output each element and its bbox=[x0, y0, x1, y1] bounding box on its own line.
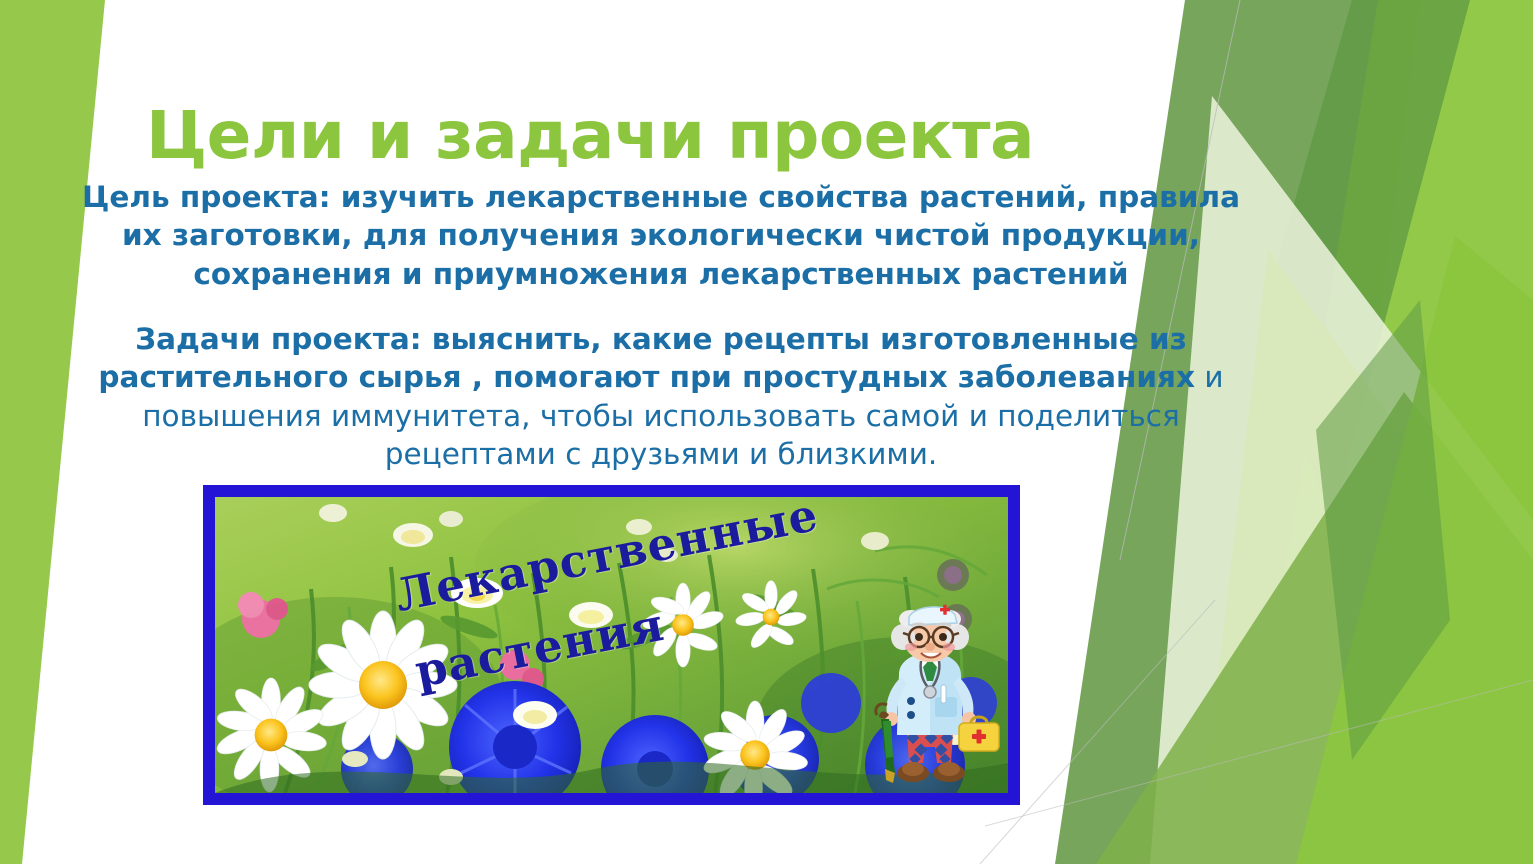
paragraph-tasks-bold: Задачи проекта: выяснить, какие рецепты … bbox=[98, 322, 1195, 394]
paragraph-goal: Цель проекта: изучить лекарственные свой… bbox=[78, 178, 1244, 293]
cartoon-doctor-illustration bbox=[855, 597, 1005, 796]
presentation-slide: Цели и задачи проекта Цель проекта: изуч… bbox=[0, 0, 1533, 864]
picture-frame[interactable]: Лекарственные растения bbox=[203, 485, 1020, 805]
stethoscope-bell bbox=[924, 686, 936, 698]
paragraph-tasks: Задачи проекта: выяснить, какие рецепты … bbox=[78, 320, 1244, 473]
nurse-cap-with-red-cross bbox=[909, 605, 957, 625]
slide-title: Цели и задачи проекта bbox=[0, 100, 1180, 171]
slide-body: Цель проекта: изучить лекарственные свой… bbox=[78, 178, 1244, 473]
picture-inner-border: Лекарственные растения bbox=[212, 494, 1011, 796]
deco-poly-dark-2 bbox=[1316, 300, 1450, 760]
deco-poly-pale-2 bbox=[1196, 250, 1533, 864]
doctor-head bbox=[891, 605, 969, 662]
deco-poly-dark-1 bbox=[1258, 0, 1470, 520]
checkered-trousers bbox=[907, 731, 954, 765]
deco-poly-bright-2 bbox=[1296, 236, 1533, 864]
brown-shoes bbox=[897, 762, 965, 782]
deco-poly-bright-1 bbox=[1238, 0, 1533, 864]
hairline-diagonal bbox=[985, 680, 1533, 826]
